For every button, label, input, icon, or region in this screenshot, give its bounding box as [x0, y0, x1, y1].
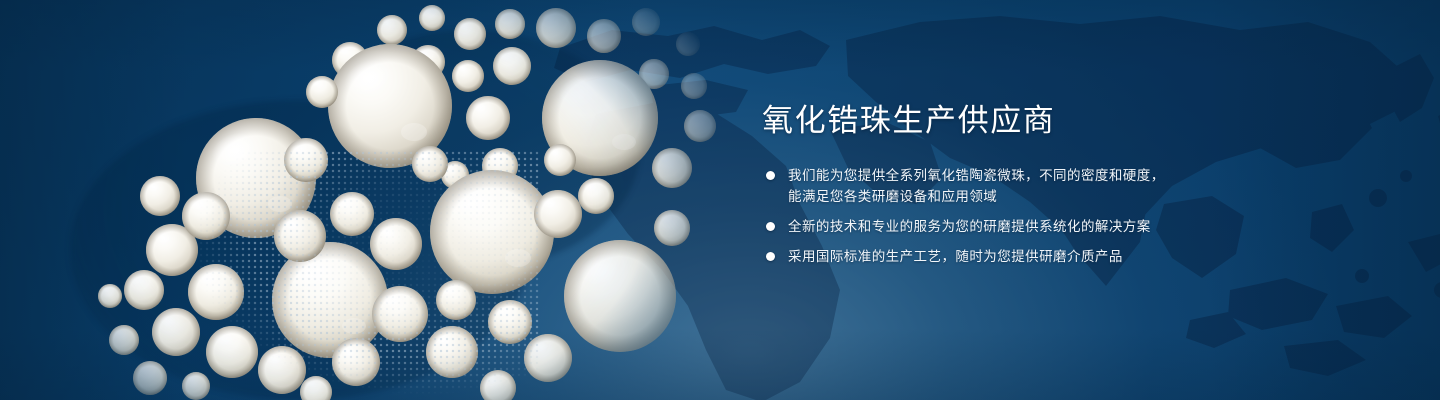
feature-list: 我们能为您提供全系列氧化锆陶瓷微珠，不同的密度和硬度， 能满足您各类研磨设备和应…	[762, 165, 1362, 267]
page-title: 氧化锆珠生产供应商	[762, 104, 1362, 139]
list-item-line: 全新的技术和专业的服务为您的研磨提供系统化的解决方案	[788, 216, 1362, 237]
list-item-line: 我们能为您提供全系列氧化锆陶瓷微珠，不同的密度和硬度，	[788, 165, 1362, 186]
list-item: 采用国际标准的生产工艺，随时为您提供研磨介质产品	[762, 246, 1362, 267]
banner-copy: 氧化锆珠生产供应商 我们能为您提供全系列氧化锆陶瓷微珠，不同的密度和硬度， 能满…	[762, 104, 1362, 267]
list-item: 全新的技术和专业的服务为您的研磨提供系统化的解决方案	[762, 216, 1362, 237]
list-item: 我们能为您提供全系列氧化锆陶瓷微珠，不同的密度和硬度， 能满足您各类研磨设备和应…	[762, 165, 1362, 207]
zirconia-beads-photo	[0, 0, 760, 400]
list-item-line: 能满足您各类研磨设备和应用领域	[788, 186, 1362, 207]
bullet-dot-icon	[766, 222, 775, 231]
hero-banner: 氧化锆珠生产供应商 我们能为您提供全系列氧化锆陶瓷微珠，不同的密度和硬度， 能满…	[0, 0, 1440, 400]
list-item-line: 采用国际标准的生产工艺，随时为您提供研磨介质产品	[788, 246, 1362, 267]
bullet-dot-icon	[766, 252, 775, 261]
bullet-dot-icon	[766, 171, 775, 180]
